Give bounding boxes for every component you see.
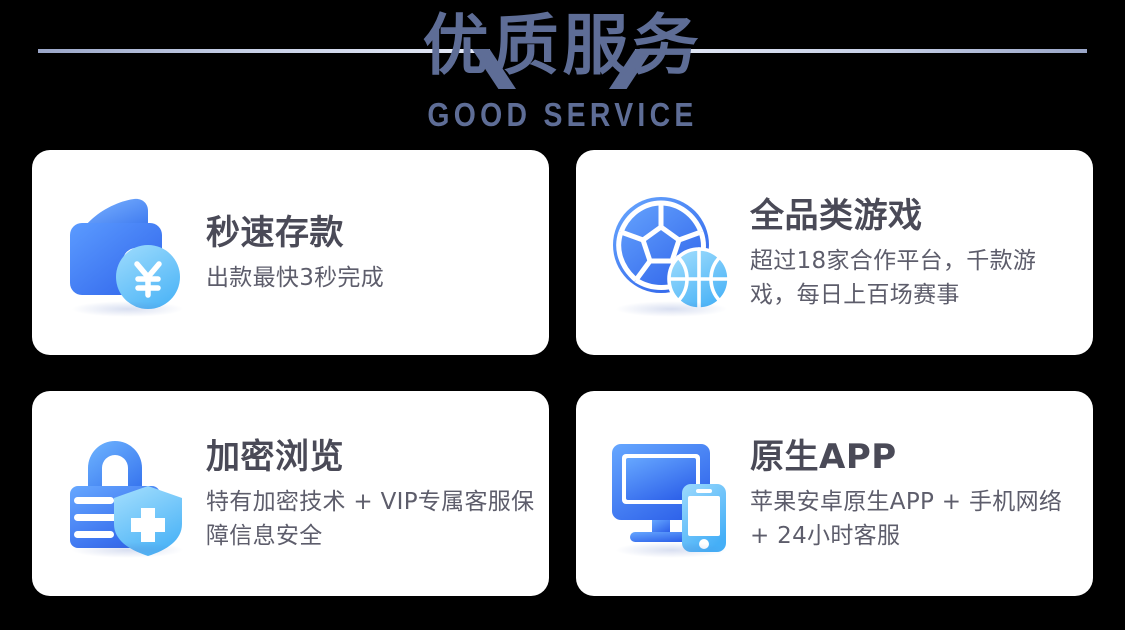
card-description: 超过18家合作平台，千款游戏，每日上百场赛事 bbox=[750, 244, 1079, 312]
feature-card-grid: 秒速存款 出款最快3秒完成 bbox=[32, 150, 1093, 596]
card-title: 全品类游戏 bbox=[750, 194, 1079, 238]
card-text-block: 全品类游戏 超过18家合作平台，千款游戏，每日上百场赛事 bbox=[750, 194, 1079, 312]
card-title: 原生APP bbox=[750, 435, 1079, 479]
monitor-phone-icon bbox=[604, 428, 736, 560]
feature-card-games[interactable]: 全品类游戏 超过18家合作平台，千款游戏，每日上百场赛事 bbox=[576, 150, 1093, 355]
card-text-block: 加密浏览 特有加密技术 + VIP专属客服保障信息安全 bbox=[206, 435, 535, 553]
feature-card-encryption[interactable]: 加密浏览 特有加密技术 + VIP专属客服保障信息安全 bbox=[32, 391, 549, 596]
feature-card-deposit[interactable]: 秒速存款 出款最快3秒完成 bbox=[32, 150, 549, 355]
lock-shield-icon bbox=[60, 428, 192, 560]
card-title: 加密浏览 bbox=[206, 435, 535, 479]
service-features-banner: 优质服务 GOOD SERVICE bbox=[0, 0, 1125, 630]
card-description: 苹果安卓原生APP + 手机网络 + 24小时客服 bbox=[750, 485, 1079, 553]
wallet-icon bbox=[60, 187, 192, 319]
card-title: 秒速存款 bbox=[206, 211, 535, 255]
soccer-basketball-icon bbox=[604, 187, 736, 319]
banner-header: 优质服务 GOOD SERVICE bbox=[0, 0, 1125, 150]
card-description: 特有加密技术 + VIP专属客服保障信息安全 bbox=[206, 485, 535, 553]
card-text-block: 原生APP 苹果安卓原生APP + 手机网络 + 24小时客服 bbox=[750, 435, 1079, 553]
feature-card-native-app[interactable]: 原生APP 苹果安卓原生APP + 手机网络 + 24小时客服 bbox=[576, 391, 1093, 596]
page-subtitle: GOOD SERVICE bbox=[79, 96, 1047, 134]
card-text-block: 秒速存款 出款最快3秒完成 bbox=[206, 211, 535, 295]
page-title: 优质服务 bbox=[0, 4, 1125, 88]
card-description: 出款最快3秒完成 bbox=[206, 261, 535, 295]
